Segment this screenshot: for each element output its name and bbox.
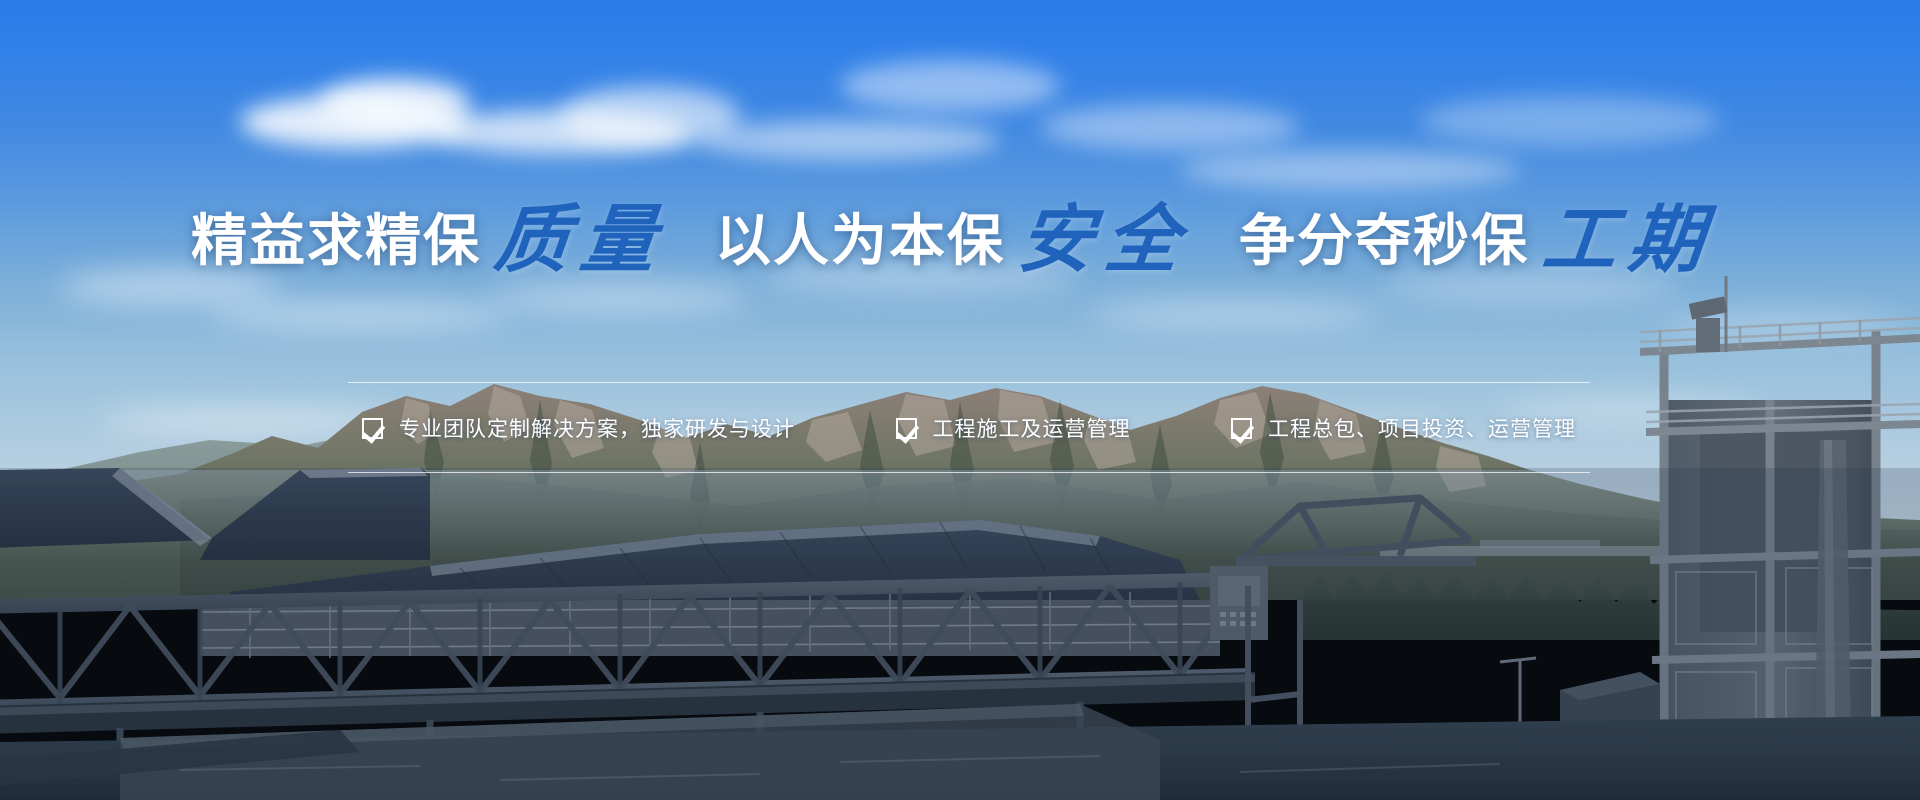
divider-top [348, 382, 1590, 383]
feature-label-1: 专业团队定制解决方案，独家研发与设计 [399, 413, 795, 443]
feature-label-3: 工程总包、项目投资、运营管理 [1268, 413, 1576, 443]
checkbox-checked-icon [1231, 418, 1252, 439]
checkbox-checked-icon [896, 418, 917, 439]
headline-segment-6: 工期 [1525, 204, 1733, 278]
feature-list: 专业团队定制解决方案，独家研发与设计 工程施工及运营管理 工程总包、项目投资、运… [348, 408, 1590, 448]
checkbox-checked-icon [362, 418, 383, 439]
headline-segment-1: 精益求精保 [191, 209, 481, 272]
feature-label-2: 工程施工及运营管理 [933, 413, 1131, 443]
headline-segment-3: 以人为本保 [715, 209, 1005, 272]
divider-bottom [348, 472, 1590, 473]
feature-item-2: 工程施工及运营管理 [896, 413, 1131, 443]
headline-segment-5: 争分夺秒保 [1239, 209, 1529, 272]
feature-item-1: 专业团队定制解决方案，独家研发与设计 [362, 413, 795, 443]
headline-segment-4: 安全 [1001, 204, 1209, 278]
feature-item-3: 工程总包、项目投资、运营管理 [1231, 413, 1576, 443]
headline: 精益求精保质量以人为本保安全争分夺秒保工期 [0, 204, 1920, 278]
headline-segment-2: 质量 [477, 204, 685, 278]
hero-banner: 精益求精保质量以人为本保安全争分夺秒保工期 专业团队定制解决方案，独家研发与设计… [0, 0, 1920, 800]
industrial-plant-scene [0, 0, 1920, 800]
